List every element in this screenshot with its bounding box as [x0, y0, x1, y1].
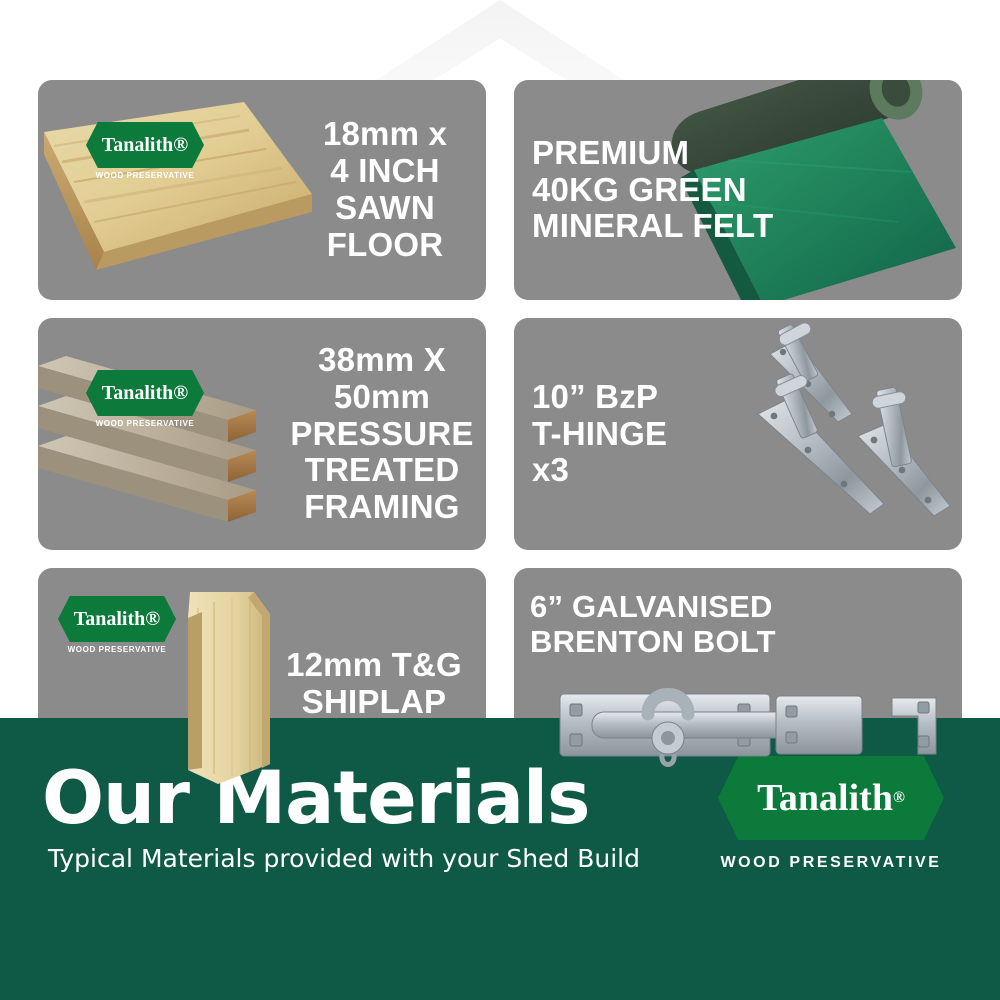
tanalith-badge: Tanalith® WOOD PRESERVATIVE [58, 596, 176, 654]
tanalith-hex: Tanalith® [58, 596, 176, 642]
card-label-framing: 38mm X 50mm PRESSURE TREATED FRAMING [284, 342, 480, 527]
tanalith-hex: Tanalith® [86, 370, 204, 416]
card-label-t-hinge: 10” BzP T-HINGE x3 [532, 379, 722, 490]
registered-mark: ® [173, 134, 188, 157]
footer-title: Our Materials [42, 756, 590, 841]
treated-framing-timber-icon [38, 328, 303, 538]
card-label-shiplap: 12mm T&G SHIPLAP [268, 647, 480, 721]
material-card-pressure-treated-framing[interactable]: Tanalith® WOOD PRESERVATIVE 38mm X 50mm … [38, 318, 486, 550]
tanalith-wordmark: Tanalith [74, 608, 146, 631]
card-label-brenton-bolt: 6” GALVANISED BRENTON BOLT [530, 590, 950, 659]
materials-grid: Tanalith® WOOD PRESERVATIVE 18mm x 4 INC… [38, 80, 962, 800]
tanalith-subtitle: WOOD PRESERVATIVE [718, 854, 944, 872]
card-label-mineral-felt: PREMIUM 40KG GREEN MINERAL FELT [532, 135, 782, 246]
tanalith-badge: Tanalith® WOOD PRESERVATIVE [86, 122, 204, 180]
card-label-sawn-floor: 18mm x 4 INCH SAWN FLOOR [290, 116, 480, 264]
registered-mark: ® [173, 382, 188, 405]
tanalith-subtitle: WOOD PRESERVATIVE [86, 419, 204, 428]
tanalith-subtitle: WOOD PRESERVATIVE [86, 171, 204, 180]
poster-root: Tanalith® WOOD PRESERVATIVE 18mm x 4 INC… [0, 0, 1000, 1000]
tanalith-wordmark: Tanalith [102, 134, 174, 157]
material-card-mineral-felt[interactable]: PREMIUM 40KG GREEN MINERAL FELT [514, 80, 962, 300]
registered-mark: ® [145, 608, 160, 631]
tanalith-subtitle: WOOD PRESERVATIVE [58, 645, 176, 654]
footer-subtitle: Typical Materials provided with your She… [48, 844, 640, 873]
material-card-brenton-bolt[interactable]: 6” GALVANISED BRENTON BOLT [514, 568, 962, 800]
tanalith-badge: Tanalith® WOOD PRESERVATIVE [86, 370, 204, 428]
material-card-sawn-floor[interactable]: Tanalith® WOOD PRESERVATIVE 18mm x 4 INC… [38, 80, 486, 300]
tanalith-hex: Tanalith® [86, 122, 204, 168]
tanalith-wordmark: Tanalith [102, 382, 174, 405]
galvanised-brenton-bolt-icon [552, 662, 952, 792]
material-card-t-hinge[interactable]: 10” BzP T-HINGE x3 [514, 318, 962, 550]
